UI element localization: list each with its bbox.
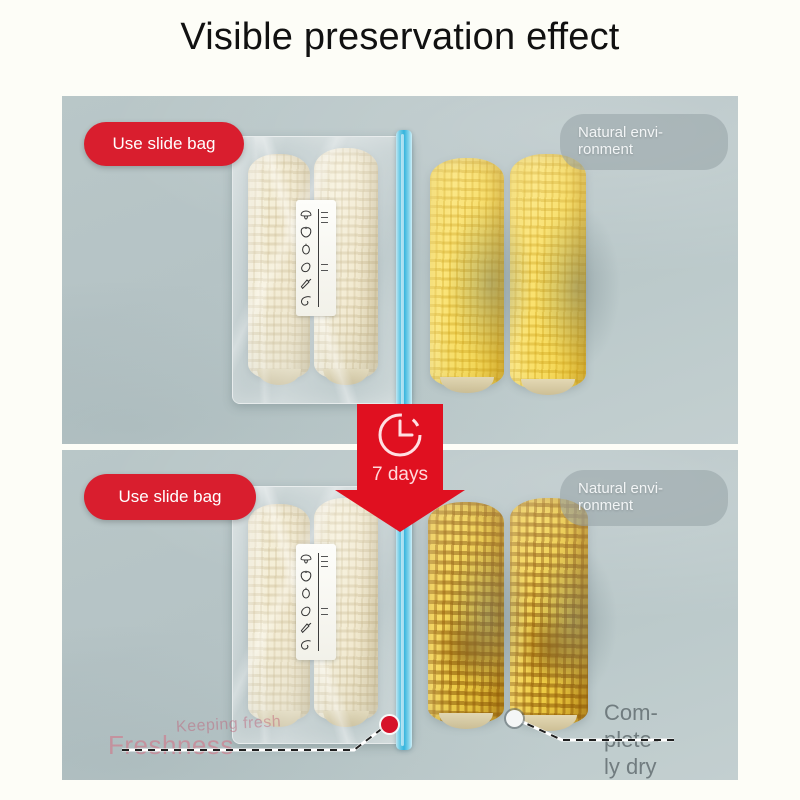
clock-icon (374, 411, 426, 463)
carrot-icon (300, 278, 312, 290)
label-date-marks (321, 208, 334, 308)
page-title: Visible preservation effect (0, 16, 800, 59)
red-dot-marker (381, 716, 398, 733)
arrow-days-label: 7 days (335, 464, 465, 486)
mushroom-icon (300, 210, 313, 221)
panel-before: Use slide bag Natural envi- ronment (62, 96, 738, 444)
badge-use-slide-bag[interactable]: Use slide bag (84, 122, 244, 166)
corn-shadow (517, 172, 637, 402)
seven-days-arrow: 7 days (335, 404, 465, 532)
pepper-icon (300, 243, 312, 255)
badge-label-line2: ronment (578, 141, 633, 158)
badge-natural-environment[interactable]: Natural envi- ronment (560, 114, 728, 170)
badge-label: Natural envi- ronment (578, 125, 663, 159)
bag-write-on-label (296, 200, 336, 316)
shrimp-icon (300, 295, 312, 306)
arrow-head (335, 490, 465, 532)
product-infographic: Visible preservation effect (0, 0, 800, 800)
label-divider-line (318, 209, 319, 307)
label-icon-column (296, 200, 317, 316)
eggplant-icon (300, 261, 312, 273)
badge-label-line1: Natural envi- (578, 124, 663, 141)
white-dot-marker (506, 710, 523, 727)
apple-icon (300, 226, 312, 238)
zipper-slider[interactable] (396, 130, 412, 414)
badge-label: Use slide bag (112, 134, 215, 153)
